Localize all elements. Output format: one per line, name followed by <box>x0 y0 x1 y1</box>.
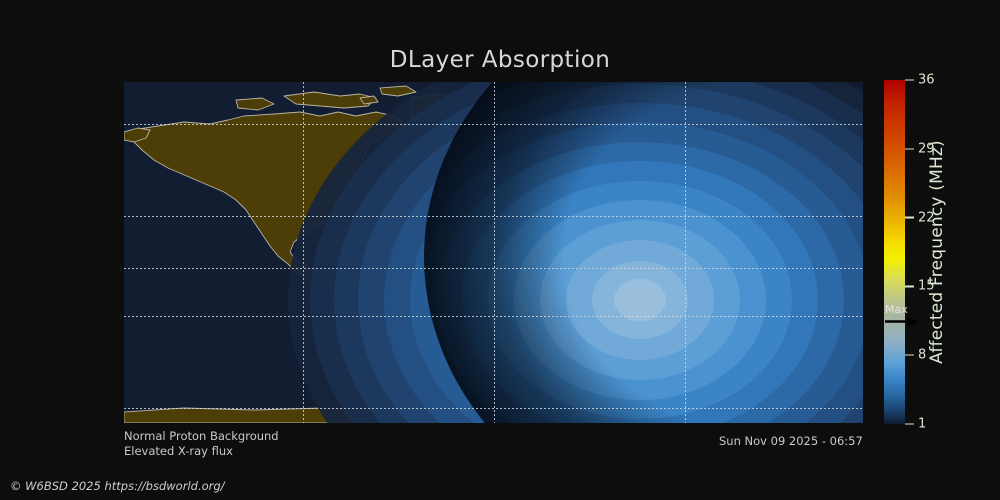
colorbar-axis-label-text: Affected Frequency (MHz) <box>927 140 947 364</box>
tick-dash-icon <box>905 79 914 81</box>
timestamp: Sun Nov 09 2025 - 06:57 <box>719 434 863 448</box>
colorbar-axis-label: Affected Frequency (MHz) <box>922 80 952 424</box>
footer-credit: © W6BSD 2025 https://bsdworld.org/ <box>10 479 225 493</box>
tick-dash-icon <box>905 286 914 288</box>
world-map[interactable] <box>124 82 863 423</box>
terminator-shadow <box>424 82 863 423</box>
colorbar-gradient <box>884 80 905 424</box>
status-line-2: Elevated X-ray flux <box>124 444 279 459</box>
colorbar[interactable] <box>884 80 905 424</box>
status-caption: Normal Proton Background Elevated X-ray … <box>124 429 279 459</box>
max-arrow-icon <box>885 317 919 326</box>
max-marker: Max <box>884 303 930 329</box>
max-marker-label: Max <box>885 303 908 316</box>
tick-dash-icon <box>905 148 914 150</box>
tick-dash-icon <box>905 217 914 219</box>
page-title: DLayer Absorption <box>0 47 1000 73</box>
tick-dash-icon <box>905 354 914 356</box>
app-root: DLayer Absorption <box>0 0 1000 500</box>
tick-dash-icon <box>905 423 914 425</box>
status-line-1: Normal Proton Background <box>124 429 279 444</box>
